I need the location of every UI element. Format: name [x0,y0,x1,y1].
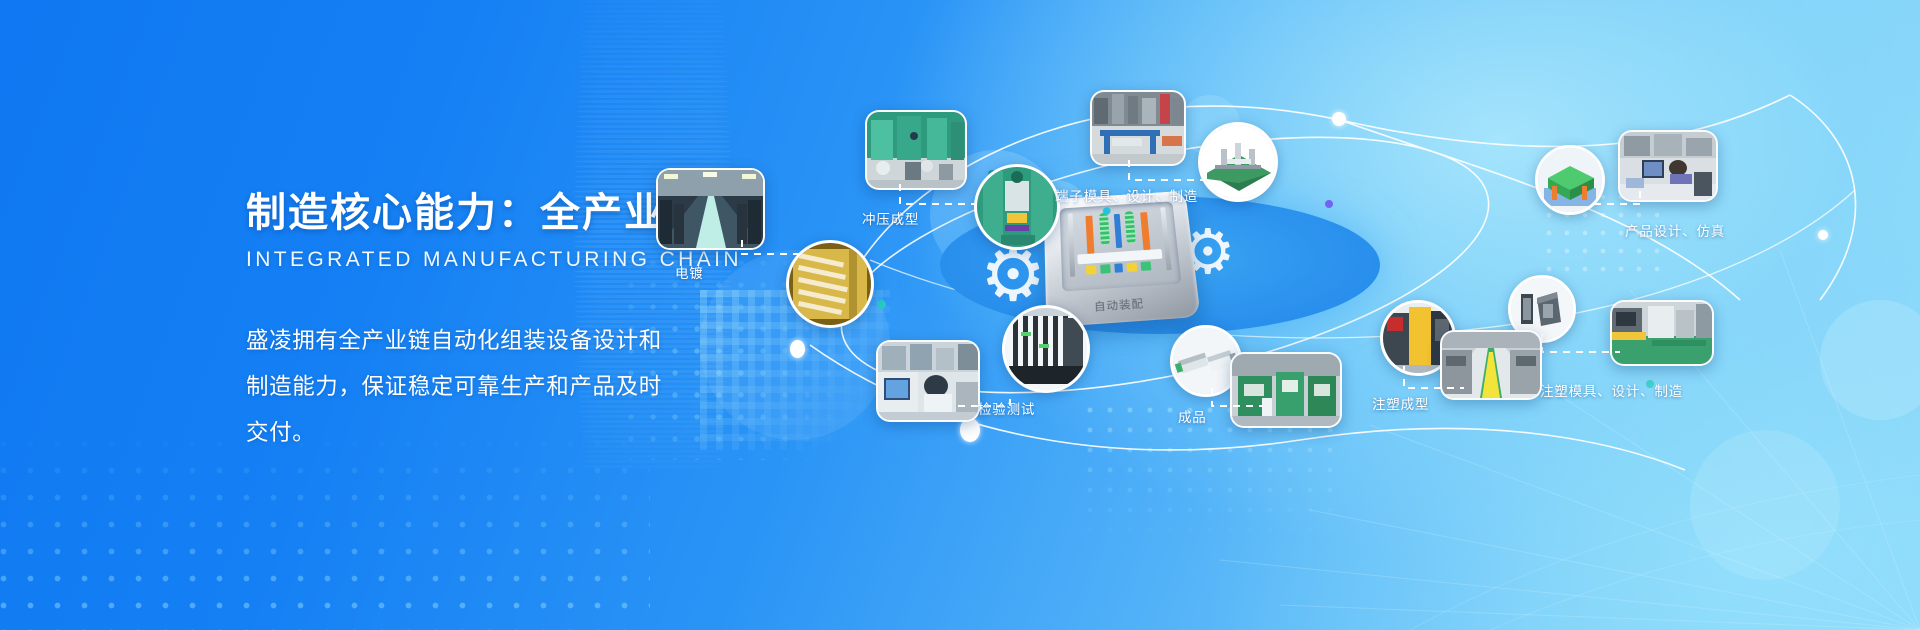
node-label-stamping: 冲压成型 [862,208,919,228]
node-label-injection-mold: 注塑模具、设计、制造 [1540,380,1683,400]
node-thumb-stamping[interactable] [865,110,963,186]
dot-grid-bottom-left [0,430,650,630]
body-paragraph: 盛凌拥有全产业链自动化组装设备设计和制造能力，保证稳定可靠生产和产品及时交付。 [246,318,676,456]
node-thumb-product-design-model[interactable] [1535,145,1599,209]
automatic-assembly-machine: 自动装配 [1045,190,1193,322]
node-thumb-product-design[interactable] [1618,130,1714,198]
accent-dot [1325,200,1333,208]
node-label-electroplating: 电镀 [675,262,704,282]
page-subtitle: INTEGRATED MANUFACTURING CHAIN [246,248,716,272]
node-thumb-injection-mold-part[interactable] [1508,275,1570,337]
orbit-knot [1818,230,1828,240]
node-thumb-terminal-mold[interactable] [1090,90,1182,162]
node-thumb-inspection-lab[interactable] [876,340,976,418]
node-label-terminal-mold: 端子模具、设计、制造 [1055,185,1198,205]
orbit-knot [790,340,805,358]
headline-block: 制造核心能力：全产业链 INTEGRATED MANUFACTURING CHA… [246,180,716,456]
node-thumb-plated-strip[interactable] [786,240,868,322]
banner-stage: 制造核心能力：全产业链 INTEGRATED MANUFACTURING CHA… [0,0,1920,630]
node-label-inspection-test: 检验测试 [978,398,1035,418]
node-thumb-electroplating[interactable] [656,168,761,246]
node-thumb-injection-molding-line[interactable] [1440,330,1538,396]
process-chain-diagram: ⚙ ⚙ ⚙ 自动装配 [780,0,1920,630]
node-thumb-stamping-machine[interactable] [974,164,1054,244]
node-label-injection-molding: 注塑成型 [1372,393,1429,413]
node-label-finished-product: 成品 [1178,406,1207,426]
orbit-paths [780,0,1920,630]
accent-dot [877,300,886,309]
node-thumb-injection-mold[interactable] [1610,300,1710,362]
machine-cavity [1060,201,1182,291]
node-label-product-design: 产品设计、仿真 [1625,220,1725,240]
node-thumb-finished-product[interactable] [1170,325,1236,391]
node-thumb-assembly-line[interactable] [1230,352,1338,424]
node-thumb-inspection-test[interactable] [1002,305,1084,387]
page-title: 制造核心能力：全产业链 [246,180,716,238]
node-thumb-terminal-mold-part[interactable] [1198,122,1272,196]
orbit-knot [1332,112,1346,126]
